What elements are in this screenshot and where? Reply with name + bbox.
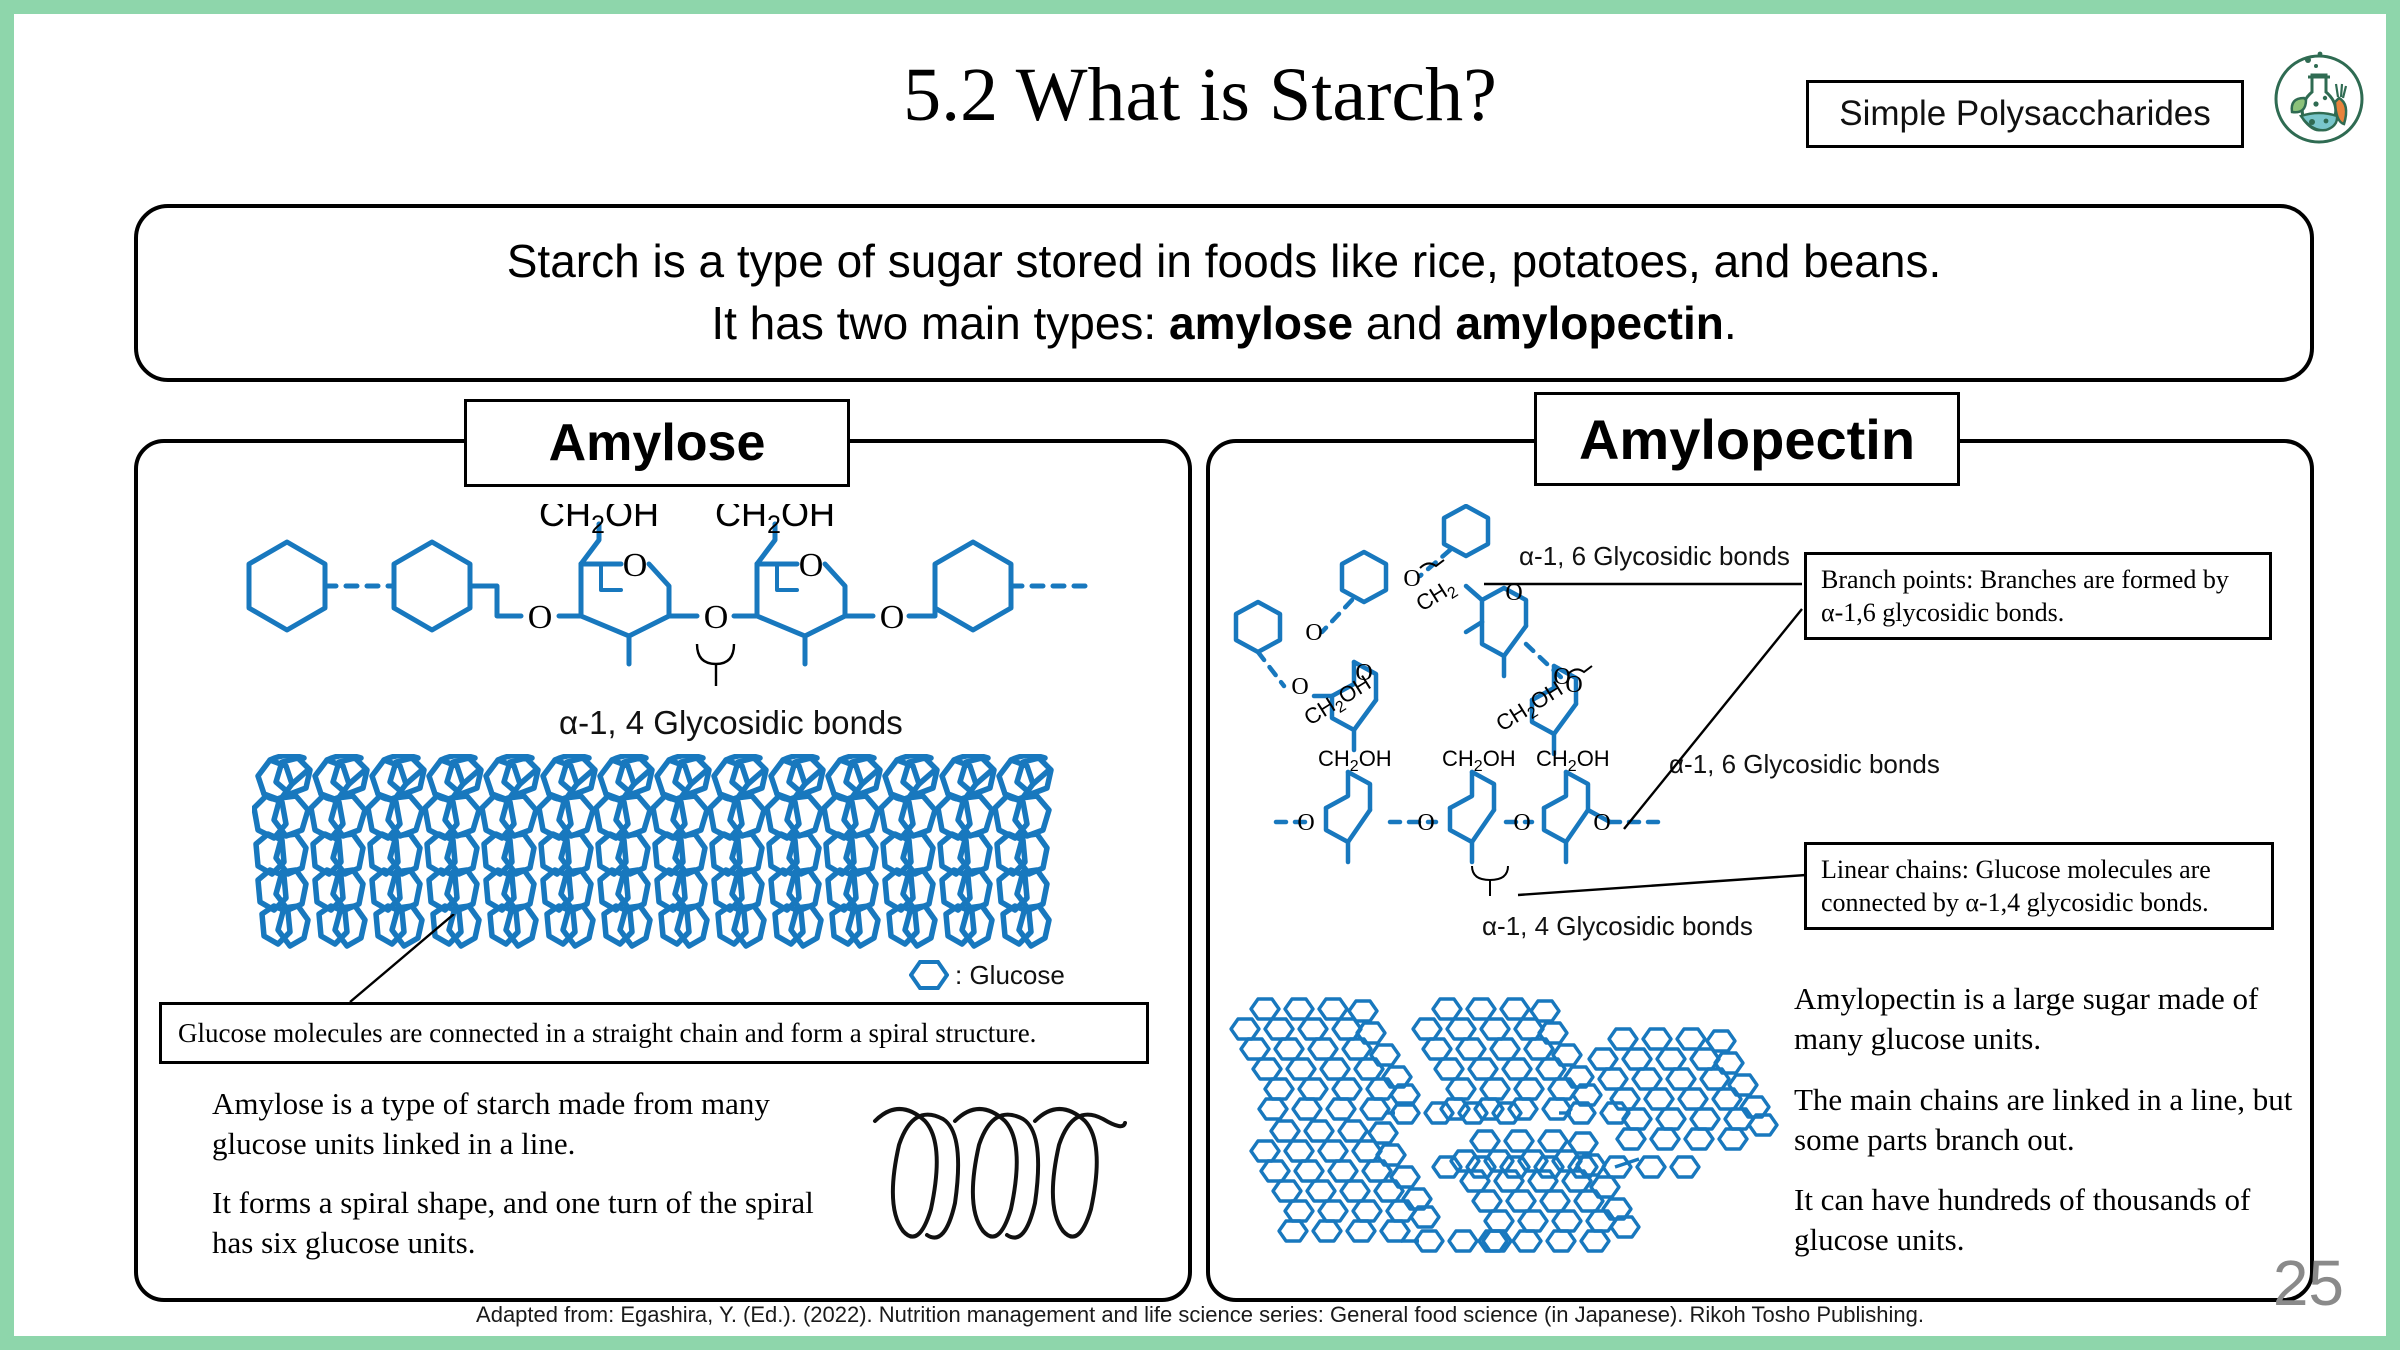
svg-text:CH2OH: CH2OH bbox=[1299, 670, 1377, 734]
glucose-legend: : Glucose bbox=[909, 959, 1065, 991]
intro-line2-prefix: It has two main types: bbox=[711, 297, 1169, 349]
amylopectin-panel-tab: Amylopectin bbox=[1534, 392, 1960, 486]
amylopectin-desc-line-2: The main chains are linked in a line, bu… bbox=[1794, 1080, 2294, 1161]
topic-badge-label: Simple Polysaccharides bbox=[1839, 94, 2211, 134]
branch-callout-leader bbox=[1474, 569, 1814, 909]
amylopectin-a16-label-top: α-1, 6 Glycosidic bonds bbox=[1519, 541, 1790, 572]
glucose-legend-label: : Glucose bbox=[955, 960, 1065, 991]
svg-text:O: O bbox=[528, 599, 553, 636]
amylose-glycosidic-label: α-1, 4 Glycosidic bonds bbox=[559, 704, 903, 742]
branched-hexagon-cluster-icon bbox=[1219, 989, 1789, 1254]
page-number: 25 bbox=[2273, 1246, 2344, 1320]
branch-points-text: Branch points: Branches are formed by α-… bbox=[1821, 565, 2229, 627]
amylose-panel-tab: Amylose bbox=[464, 399, 850, 487]
amylose-description: Amylose is a type of starch made from ma… bbox=[212, 1084, 852, 1281]
svg-text:O: O bbox=[1297, 810, 1314, 836]
amylose-tab-label: Amylose bbox=[549, 413, 766, 473]
intro-line-1: Starch is a type of sugar stored in food… bbox=[507, 236, 1942, 288]
amylose-leader-line bbox=[344, 914, 484, 1009]
svg-text:O: O bbox=[799, 547, 824, 584]
branch-points-callout: Branch points: Branches are formed by α-… bbox=[1804, 552, 2272, 640]
linear-chains-text: Linear chains: Glucose molecules are con… bbox=[1821, 855, 2211, 917]
amylose-desc-line-1: Amylose is a type of starch made from ma… bbox=[212, 1084, 852, 1165]
svg-text:CH2OH: CH2OH bbox=[715, 504, 835, 539]
svg-text:O: O bbox=[1291, 674, 1308, 700]
flask-vegetable-logo-icon bbox=[2264, 42, 2374, 152]
amylose-desc-line-2: It forms a spiral shape, and one turn of… bbox=[212, 1183, 852, 1264]
spiral-coil-icon bbox=[869, 1099, 1134, 1264]
amylose-caption-text: Glucose molecules are connected in a str… bbox=[178, 1018, 1036, 1049]
intro-line2-middle: and bbox=[1353, 297, 1455, 349]
svg-text:O: O bbox=[1417, 810, 1434, 836]
amylopectin-a14-label: α-1, 4 Glycosidic bonds bbox=[1482, 911, 1753, 942]
svg-text:O: O bbox=[1403, 566, 1420, 592]
linear-callout-leader bbox=[1514, 869, 1814, 909]
amylopectin-desc-line-1: Amylopectin is a large sugar made of man… bbox=[1794, 979, 2294, 1060]
linear-chains-callout: Linear chains: Glucose molecules are con… bbox=[1804, 842, 2274, 930]
amylose-chemical-structure: O O O O O CH2OH CH2OH bbox=[229, 504, 1109, 724]
intro-line2-suffix: . bbox=[1724, 297, 1737, 349]
intro-term-amylopectin: amylopectin bbox=[1455, 297, 1723, 349]
svg-text:O: O bbox=[1305, 620, 1322, 646]
amylopectin-desc-line-3: It can have hundreds of thousands of glu… bbox=[1794, 1180, 2294, 1261]
intro-line-2: It has two main types: amylose and amylo… bbox=[711, 298, 1736, 350]
topic-badge: Simple Polysaccharides bbox=[1806, 80, 2244, 148]
slide-canvas: 5.2 What is Starch? Simple Polysaccharid… bbox=[14, 14, 2386, 1336]
amylopectin-description: Amylopectin is a large sugar made of man… bbox=[1794, 979, 2294, 1281]
source-citation: Adapted from: Egashira, Y. (Ed.). (2022)… bbox=[14, 1302, 2386, 1328]
amylose-caption-box: Glucose molecules are connected in a str… bbox=[159, 1002, 1149, 1064]
intro-banner: Starch is a type of sugar stored in food… bbox=[134, 204, 2314, 382]
hexagon-glucose-icon bbox=[909, 959, 949, 991]
svg-text:O: O bbox=[704, 599, 729, 636]
svg-text:CH2OH: CH2OH bbox=[539, 504, 659, 539]
svg-text:O: O bbox=[880, 599, 905, 636]
intro-term-amylose: amylose bbox=[1169, 297, 1353, 349]
svg-text:O: O bbox=[623, 547, 648, 584]
amylopectin-tab-label: Amylopectin bbox=[1579, 407, 1915, 472]
